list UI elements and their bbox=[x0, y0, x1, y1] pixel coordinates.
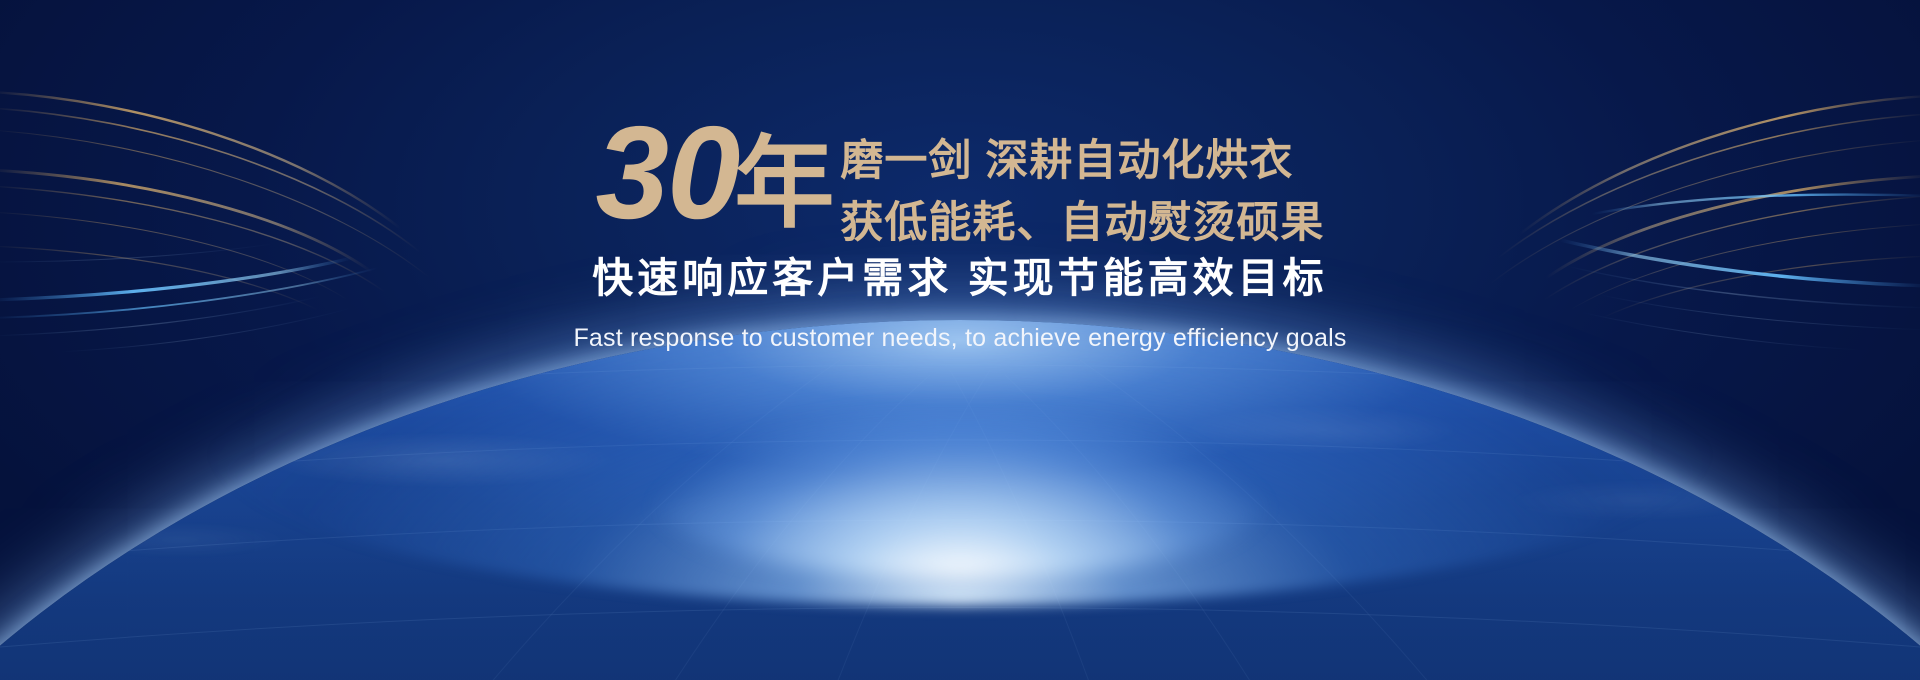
years-number: 30 bbox=[596, 99, 739, 246]
gold-slogan-line-1: 磨一剑 深耕自动化烘衣 bbox=[840, 130, 1324, 192]
promo-banner: 30年 磨一剑 深耕自动化烘衣 获低能耗、自动熨烫硕果 快速响应客户需求 实现节… bbox=[0, 0, 1920, 680]
headline-row: 30年 磨一剑 深耕自动化烘衣 获低能耗、自动熨烫硕果 bbox=[0, 118, 1920, 254]
gold-slogan-line-2: 获低能耗、自动熨烫硕果 bbox=[840, 192, 1324, 254]
years-headline: 30年 bbox=[596, 114, 835, 243]
earth-grid-icon bbox=[0, 320, 1920, 680]
years-unit: 年 bbox=[734, 128, 834, 240]
subheadline-english: Fast response to customer needs, to achi… bbox=[0, 320, 1920, 356]
subheadline-chinese: 快速响应客户需求 实现节能高效目标 bbox=[0, 252, 1920, 304]
earth-horizon bbox=[0, 320, 1920, 680]
gold-slogan-block: 磨一剑 深耕自动化烘衣 获低能耗、自动熨烫硕果 bbox=[840, 118, 1324, 254]
